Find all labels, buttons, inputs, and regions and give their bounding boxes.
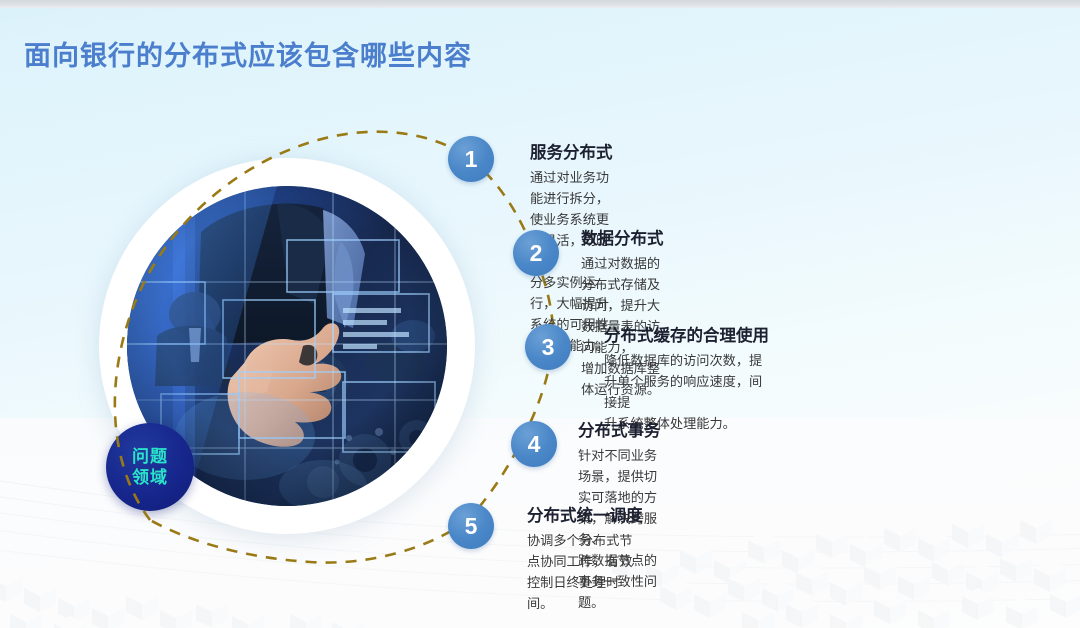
item-heading-5: 分布式统一调度 — [527, 505, 643, 527]
item-heading-1: 服务分布式 — [530, 142, 613, 164]
window-top-strip — [0, 0, 1080, 8]
item-text-3: 分布式缓存的合理使用 降低数据库的访问次数，提升单个服务的响应速度，间接提 升系… — [604, 325, 769, 434]
item-badge-3[interactable]: 3 — [525, 324, 571, 370]
slide-canvas: 面向银行的分布式应该包含哪些内容 — [0, 0, 1080, 628]
item-badge-4[interactable]: 4 — [511, 421, 557, 467]
item-heading-2: 数据分布式 — [581, 228, 664, 250]
item-badge-1[interactable]: 1 — [448, 136, 494, 182]
numbered-items-list: 1 服务分布式 通过对业务功能进行拆分，使业务系统更加灵活，同时每部 分多实例运… — [0, 0, 1080, 628]
item-heading-4: 分布式事务 — [578, 420, 661, 442]
item-badge-2[interactable]: 2 — [513, 230, 559, 276]
item-text-5: 分布式统一调度 协调多个分布式节点协同工作，有效控制日终处理时间。 — [527, 505, 643, 614]
item-badge-5[interactable]: 5 — [448, 503, 494, 549]
item-body-5: 协调多个分布式节点协同工作，有效控制日终处理时间。 — [527, 530, 643, 614]
item-heading-3: 分布式缓存的合理使用 — [604, 325, 769, 347]
